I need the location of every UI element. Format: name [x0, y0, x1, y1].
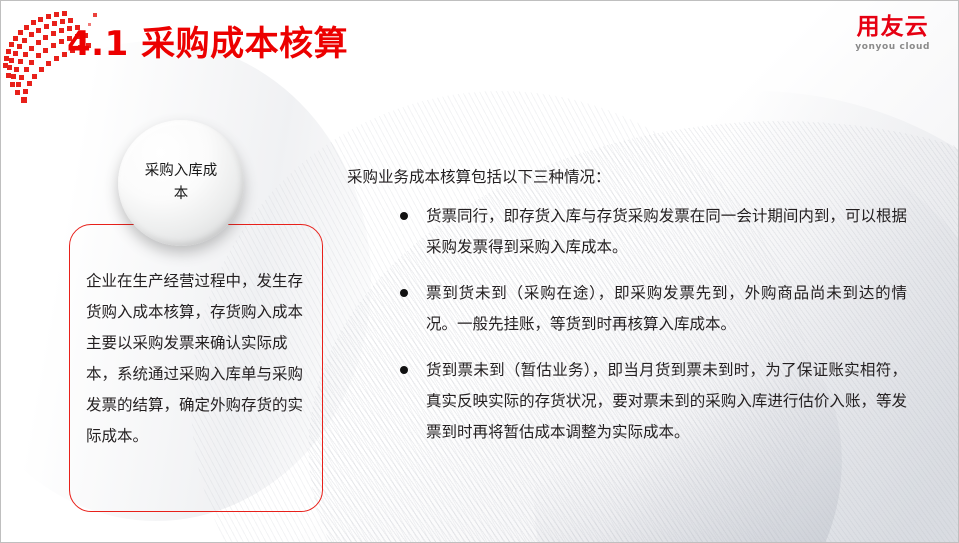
- logo-wordmark: 用友云: [855, 15, 930, 40]
- bullet-dot-icon: [400, 212, 408, 220]
- brand-logo: 用友云 yonyou cloud: [855, 15, 930, 52]
- bullet-list: 货票同行，即存货入库与存货采购发票在同一会计期间内到，可以根据采购发票得到采购入…: [397, 201, 907, 463]
- list-item: 货到票未到（暂估业务），即当月货到票未到时，为了保证账实相符，真实反映实际的存货…: [397, 355, 907, 448]
- list-item: 货票同行，即存货入库与存货采购发票在同一会计期间内到，可以根据采购发票得到采购入…: [397, 201, 907, 263]
- page-title: 4.1 采购成本核算: [67, 23, 348, 66]
- left-callout-text: 企业在生产经营过程中，发生存货购入成本核算，存货购入成本主要以采购发票来确认实际…: [86, 266, 308, 452]
- list-item-text: 货到票未到（暂估业务），即当月货到票未到时，为了保证账实相符，真实反映实际的存货…: [426, 361, 907, 441]
- bullet-dot-icon: [400, 366, 408, 374]
- circle-badge-label: 采购入库成本: [139, 160, 223, 206]
- list-item-text: 货票同行，即存货入库与存货采购发票在同一会计期间内到，可以根据采购发票得到采购入…: [426, 207, 907, 256]
- logo-subtitle: yonyou cloud: [855, 42, 930, 52]
- slide-canvas: 4.1 采购成本核算 用友云 yonyou cloud 企业在生产经营过程中，发…: [0, 0, 959, 543]
- bullet-dot-icon: [400, 289, 408, 297]
- content-heading: 采购业务成本核算包括以下三种情况：: [347, 164, 611, 190]
- circle-badge: 采购入库成本: [118, 120, 244, 246]
- list-item: 票到货未到（采购在途），即采购发票先到，外购商品尚未到达的情况。一般先挂账，等货…: [397, 278, 907, 340]
- list-item-text: 票到货未到（采购在途），即采购发票先到，外购商品尚未到达的情况。一般先挂账，等货…: [426, 284, 907, 333]
